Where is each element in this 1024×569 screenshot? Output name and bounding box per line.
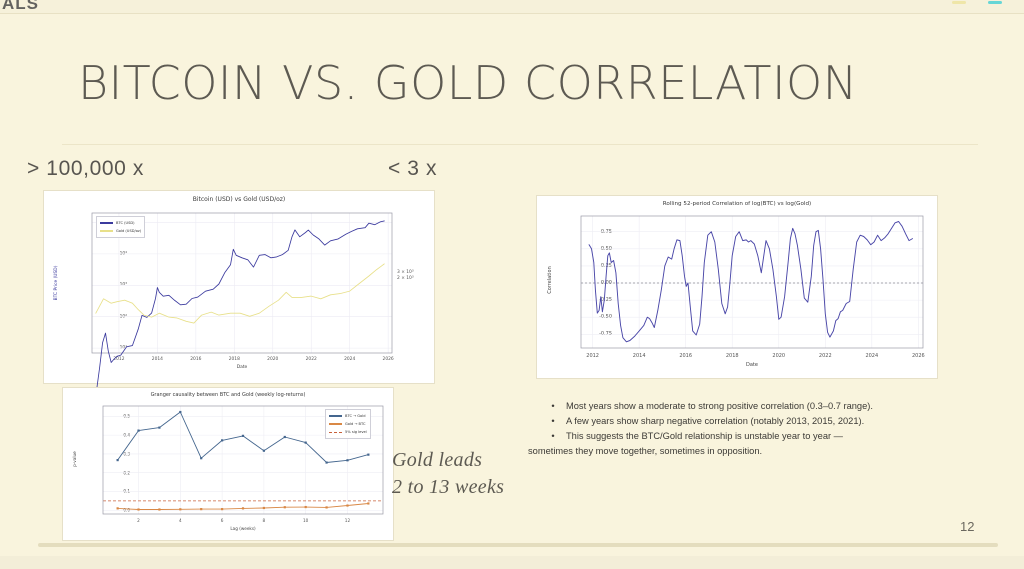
legend-entry: Gold → BTC — [329, 420, 367, 428]
title-divider — [62, 144, 978, 145]
gold-leads-callout: Gold leads 2 to 13 weeks — [392, 447, 504, 501]
figure-correlation-chart: Rolling 52-period Correlation of log(BTC… — [537, 196, 937, 378]
price-series-gold — [96, 264, 385, 323]
correlation-series-line — [589, 222, 912, 342]
legend-label: BTC (USD) — [116, 221, 135, 225]
top-marker-cyan — [988, 1, 1002, 4]
correlation-yaxis-label: Correlation — [547, 260, 553, 300]
insights-bullet-list: •Most years show a moderate to strong po… — [540, 399, 940, 459]
correlation-chart-plot — [537, 196, 937, 378]
callout-line-1: Gold leads — [392, 447, 504, 474]
bullet-text: This suggests the BTC/Gold relationship … — [566, 429, 843, 444]
price-xaxis-label: Date — [222, 365, 262, 370]
top-marker-yellow — [952, 1, 966, 4]
legend-entry: 5% sig level — [329, 428, 367, 436]
bullet-item: •This suggests the BTC/Gold relationship… — [540, 429, 940, 444]
legend-label: 5% sig level — [345, 430, 367, 434]
bullet-marker-icon: • — [540, 399, 566, 414]
bullet-marker-icon: • — [540, 414, 566, 429]
legend-label: BTC → Gold — [345, 414, 366, 418]
legend-entry: BTC → Gold — [329, 412, 367, 420]
footer-divider — [38, 543, 998, 547]
callout-line-2: 2 to 13 weeks — [392, 474, 504, 501]
legend-swatch-icon — [329, 423, 342, 425]
price-yaxis-label: BTC Price (USD) — [54, 261, 59, 305]
legend-entry: BTC (USD) — [100, 219, 141, 227]
page-title: BITCOIN VS. GOLD CORRELATION — [78, 60, 858, 106]
granger-chart-legend: BTC → GoldGold → BTC5% sig level — [325, 409, 371, 439]
top-strip: ALS — [0, 0, 1024, 14]
bottom-strip — [0, 556, 1024, 569]
legend-label: Gold (USD/oz) — [116, 229, 141, 233]
bullet-tail-text: sometimes they move together, sometimes … — [528, 444, 940, 459]
subhead-btc-multiple: > 100,000 x — [27, 157, 144, 181]
legend-entry: Gold (USD/oz) — [100, 227, 141, 235]
granger-xaxis-label: Lag (weeks) — [218, 526, 268, 531]
granger-yaxis-label: p-value — [72, 444, 77, 474]
slide-canvas: ALS BITCOIN VS. GOLD CORRELATION > 100,0… — [0, 0, 1024, 569]
bullet-marker-icon: • — [540, 429, 566, 444]
bullet-item: •Most years show a moderate to strong po… — [540, 399, 940, 414]
bullet-text: A few years show sharp negative correlat… — [566, 414, 864, 429]
figure-granger-chart: Granger causality between BTC and Gold (… — [63, 388, 393, 540]
top-strip-divider — [0, 13, 1024, 14]
legend-swatch-icon — [329, 415, 342, 417]
legend-swatch-icon — [100, 230, 113, 232]
page-number: 12 — [960, 519, 974, 534]
top-strip-text-fragment: ALS — [2, 0, 39, 14]
correlation-xaxis-label: Date — [732, 362, 772, 368]
figure-price-chart: Bitcoin (USD) vs Gold (USD/oz)2012201420… — [44, 191, 434, 383]
legend-label: Gold → BTC — [345, 422, 366, 426]
subhead-gold-multiple: < 3 x — [388, 157, 437, 181]
price-chart-legend: BTC (USD)Gold (USD/oz) — [96, 216, 145, 238]
legend-swatch-icon — [100, 222, 113, 224]
bullet-item: •A few years show sharp negative correla… — [540, 414, 940, 429]
legend-swatch-dashed-icon — [329, 432, 342, 433]
bullet-text: Most years show a moderate to strong pos… — [566, 399, 873, 414]
